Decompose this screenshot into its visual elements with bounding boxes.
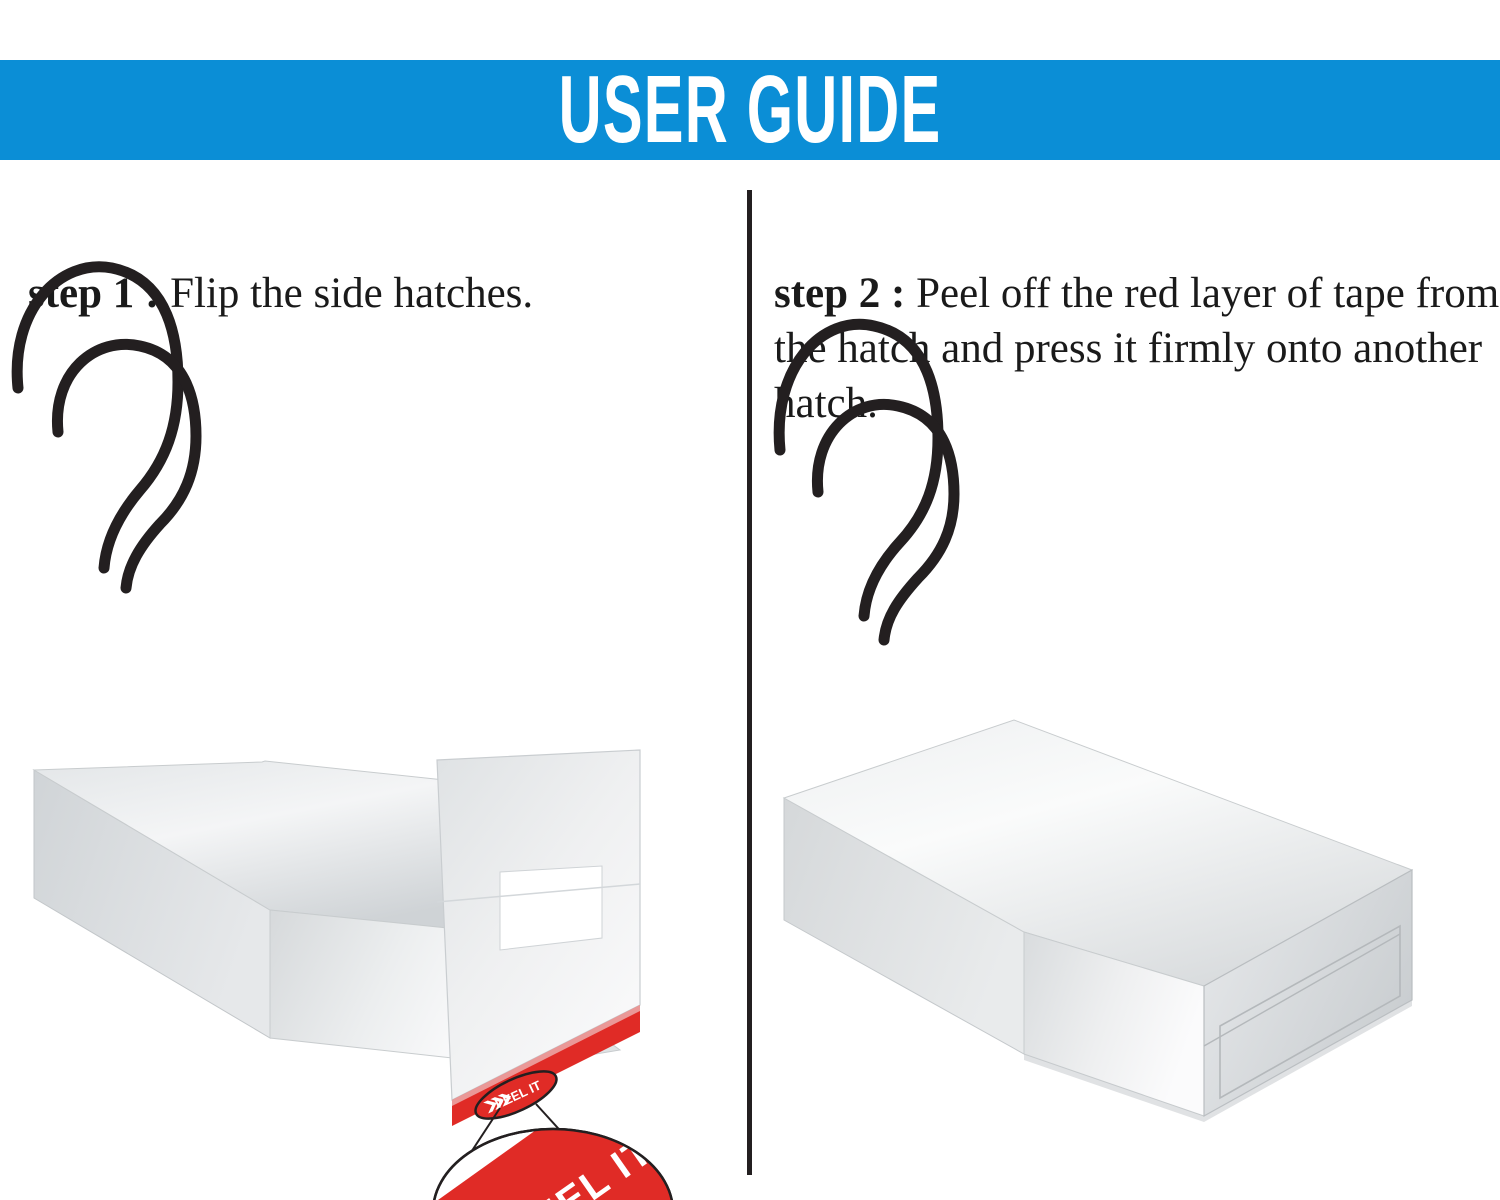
rope-handles-icon: [17, 267, 196, 588]
rope-handles-icon: [779, 324, 954, 640]
step-1-illustration: PEEL IT PEEL IT: [0, 160, 747, 1200]
step-2-illustration: [752, 160, 1500, 1200]
panel-step-1: step 1 : Flip the side hatches.: [0, 160, 747, 1200]
hatch-notch-cutout: [500, 866, 602, 950]
panel-step-2: step 2 : Peel off the red layer of tape …: [752, 160, 1500, 1200]
peel-it-callout-bubble: PEEL IT: [368, 1095, 747, 1200]
page-title: USER GUIDE: [285, 60, 1215, 160]
